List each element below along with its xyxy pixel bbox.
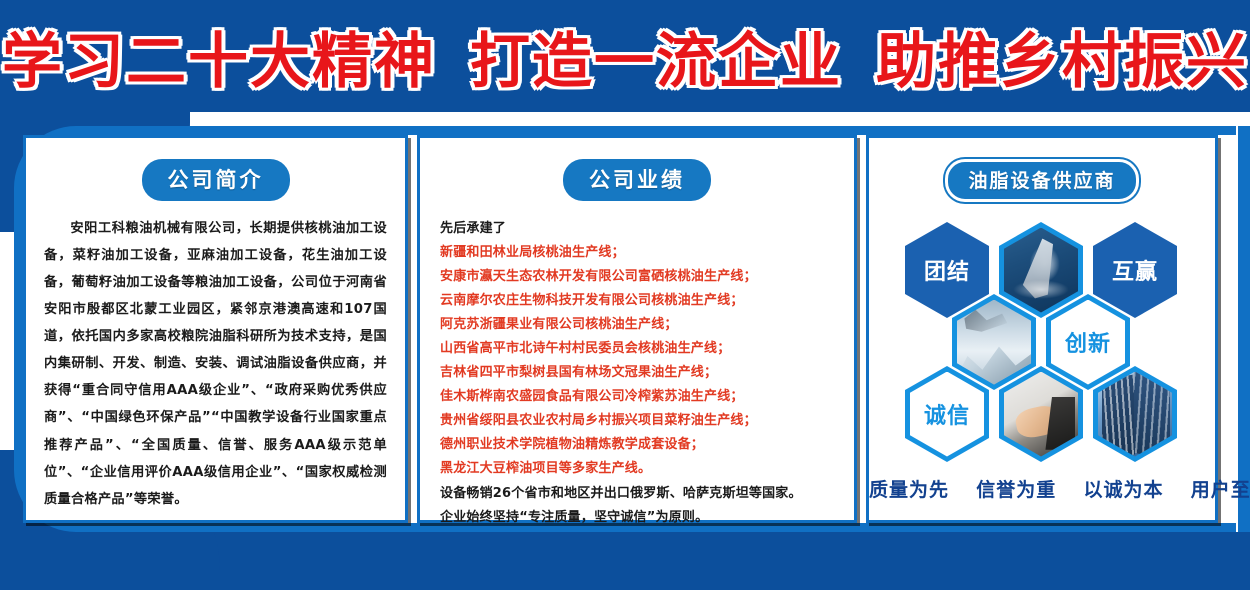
performance-lead: 先后承建了 — [440, 217, 840, 241]
supplier-slogan: 质量为先 信誉为重 以诚为本 用户至上 — [869, 475, 1215, 502]
title-segment-3: 助推乡村振兴 — [876, 13, 1248, 100]
aircraft-carrier-icon — [1004, 228, 1078, 313]
hexagon-mutual-win: 互赢 — [1093, 222, 1177, 318]
hexagon-innovation: 创新 — [1046, 294, 1130, 390]
panel-company-performance-badge: 公司业绩 — [563, 159, 711, 201]
header-band: 学习二十大精神 打造一流企业 助推乡村振兴 — [0, 0, 1250, 112]
handshake-icon — [1004, 372, 1078, 457]
list-item: 新疆和田林业局核桃油生产线； — [440, 241, 840, 265]
performance-tail-line: 企业始终坚持“专注质量，坚守诚信”为原则。 — [440, 506, 840, 530]
hexagon-aircraft-carrier-photo — [999, 222, 1083, 318]
mountain-climber-icon — [957, 300, 1031, 385]
hexagon-cluster: 团结 互赢 创新 — [877, 214, 1207, 446]
hexagon-integrity: 诚信 — [905, 366, 989, 462]
slogan-part-4: 用户至上 — [1191, 479, 1250, 501]
title-segment-1: 学习二十大精神 — [2, 13, 436, 100]
company-profile-body: 安阳工科粮油机械有限公司，长期提供核桃油加工设备，菜籽油加工设备，亚麻油加工设备… — [44, 215, 387, 513]
panel-company-profile-badge: 公司简介 — [142, 159, 290, 201]
list-item: 阿克苏浙疆果业有限公司核桃油生产线； — [440, 313, 840, 337]
page-title: 学习二十大精神 打造一流企业 助推乡村振兴 — [0, 0, 1250, 112]
slogan-part-3: 以诚为本 — [1084, 479, 1164, 501]
title-segment-2: 打造一流企业 — [470, 13, 842, 100]
list-item: 吉林省四平市梨树县国有林场文冠果油生产线； — [440, 361, 840, 385]
poster-root: 学习二十大精神 打造一流企业 助推乡村振兴 公司简介 安阳工科粮油机械有限公司，… — [0, 0, 1250, 590]
list-item: 安康市瀛天生态农林开发有限公司富硒核桃油生产线； — [440, 265, 840, 289]
panel-company-profile: 公司简介 安阳工科粮油机械有限公司，长期提供核桃油加工设备，菜籽油加工设备，亚麻… — [23, 135, 408, 523]
panel-supplier: 油脂设备供应商 团结 互赢 — [866, 135, 1218, 523]
hexagon-integrity-label: 诚信 — [924, 398, 970, 430]
list-item: 贵州省绥阳县农业农村局乡村振兴项目菜籽油生产线； — [440, 409, 840, 433]
hexagon-unity-label: 团结 — [924, 254, 970, 286]
list-item: 山西省高平市北诗午村村民委员会核桃油生产线； — [440, 337, 840, 361]
panel-company-performance: 公司业绩 先后承建了 新疆和田林业局核桃油生产线； 安康市瀛天生态农林开发有限公… — [417, 135, 857, 523]
right-border-cap — [1238, 126, 1250, 532]
hexagon-handshake-photo — [999, 366, 1083, 462]
panel-supplier-badge: 油脂设备供应商 — [945, 159, 1138, 202]
hexagon-innovation-label: 创新 — [1065, 326, 1111, 358]
panels-container: 公司简介 安阳工科粮油机械有限公司，长期提供核桃油加工设备，菜籽油加工设备，亚麻… — [23, 135, 1227, 523]
performance-list: 先后承建了 新疆和田林业局核桃油生产线； 安康市瀛天生态农林开发有限公司富硒核桃… — [440, 217, 840, 530]
slogan-part-2: 信誉为重 — [976, 479, 1056, 501]
hexagon-mutual-win-label: 互赢 — [1112, 254, 1158, 286]
slogan-part-1: 质量为先 — [869, 479, 949, 501]
hexagon-unity: 团结 — [905, 222, 989, 318]
skyscraper-icon — [1098, 372, 1172, 457]
list-item: 黑龙江大豆榨油项目等多家生产线。 — [440, 457, 840, 481]
list-item: 云南摩尔农庄生物科技开发有限公司核桃油生产线； — [440, 289, 840, 313]
list-item: 佳木斯桦南农盛园食品有限公司冷榨紫苏油生产线； — [440, 385, 840, 409]
performance-tail-line: 设备畅销26个省市和地区并出口俄罗斯、哈萨克斯坦等国家。 — [440, 482, 840, 506]
list-item: 德州职业技术学院植物油精炼教学成套设备； — [440, 433, 840, 457]
hexagon-skyscraper-photo — [1093, 366, 1177, 462]
hexagon-mountain-climber-photo — [952, 294, 1036, 390]
content-frame: 公司简介 安阳工科粮油机械有限公司，长期提供核桃油加工设备，菜籽油加工设备，亚麻… — [0, 112, 1250, 590]
